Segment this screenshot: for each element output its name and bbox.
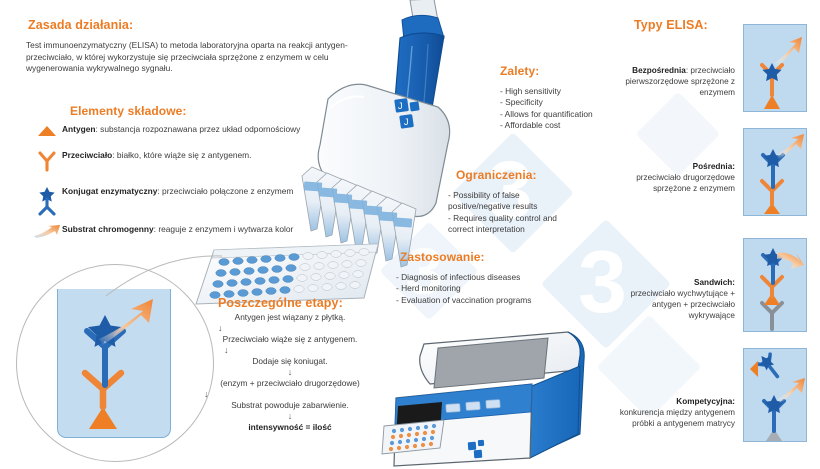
- type-term: Kompetycyjna:: [676, 397, 735, 406]
- applications-item: - Herd monitoring: [396, 283, 531, 294]
- enzyme-conjugate-icon: [32, 186, 62, 216]
- legend-term: Konjugat enzymatyczny: [62, 186, 157, 196]
- type-text: Sandwich: przeciwciało wychwytujące + an…: [610, 249, 735, 321]
- type-text: Pośrednia: przeciwciało drugorzędowe spr…: [610, 151, 735, 194]
- components-heading: Elementy składowe:: [70, 104, 187, 118]
- legend-desc: : substancja rozpoznawana przez układ od…: [96, 124, 301, 134]
- type-term: Pośrednia:: [693, 162, 735, 171]
- svg-text:J: J: [404, 117, 409, 127]
- type-term: Bezpośrednia: [632, 66, 686, 75]
- legend-text: Substrat chromogenny: reaguje z enzymem …: [62, 224, 293, 235]
- steps-line: Przeciwciało wiąże się z antygenem.: [204, 334, 376, 345]
- magnified-complex-diagram: [57, 289, 169, 437]
- advantages-item: - Affordable cost: [500, 120, 593, 131]
- magnifier-connector-line: [100, 250, 230, 310]
- antibody-orange-icon: [32, 150, 62, 172]
- limitations-heading: Ograniczenia:: [456, 168, 537, 182]
- applications-item: - Evaluation of vaccination programs: [396, 295, 531, 306]
- legend-desc: : białko, które wiąże się z antygenem.: [112, 150, 251, 160]
- type-desc: przeciwciało wychwytujące + antygen + pr…: [631, 289, 735, 320]
- steps-line: (enzym + przeciwciało drugorzędowe): [204, 378, 376, 389]
- steps-arrow-icon: ↓: [224, 346, 376, 355]
- type-desc: przeciwciało drugorzędowe sprzężone z en…: [636, 173, 735, 193]
- antigen-triangle-icon: [32, 124, 62, 138]
- elisa-type-direct: Bezpośrednia: przeciwciało pierwszorzędo…: [610, 24, 807, 112]
- principle-body: Test immunoenzymatyczny (ELISA) to metod…: [26, 40, 348, 75]
- steps-arrow-icon: ↓: [204, 412, 376, 421]
- applications-list: - Diagnosis of infectious diseases - Her…: [396, 272, 531, 306]
- applications-heading: Zastosowanie:: [400, 250, 485, 264]
- steps-arrow-icon: ↓: [204, 368, 376, 377]
- limitations-item: correct interpretation: [448, 224, 557, 235]
- type-text: Bezpośrednia: przeciwciało pierwszorzędo…: [610, 39, 735, 98]
- type-desc: konkurencja między antygenem próbki a an…: [620, 408, 735, 428]
- sandwich-elisa-diagram: [743, 238, 807, 332]
- advantages-item: - Specificity: [500, 97, 593, 108]
- elisa-type-indirect: Pośrednia: przeciwciało drugorzędowe spr…: [610, 128, 807, 216]
- infographic-canvas: 3 3 3: [0, 0, 820, 469]
- steps-line: Substrat powoduje zabarwienie.: [204, 400, 376, 411]
- principle-heading: Zasada działania:: [28, 18, 208, 32]
- indirect-elisa-diagram: [743, 128, 807, 216]
- legend-text: Przeciwciało: białko, które wiąże się z …: [62, 150, 251, 161]
- elisa-type-competitive: Kompetycyjna: konkurencja między antygen…: [610, 348, 807, 442]
- limitations-item: - Requires quality control and: [448, 213, 557, 224]
- svg-text:J: J: [398, 101, 403, 111]
- legend-term: Przeciwciało: [62, 150, 112, 160]
- limitations-item: - Possibility of false: [448, 190, 557, 201]
- advantages-item: - Allows for quantification: [500, 109, 593, 120]
- advantages-heading: Zalety:: [500, 64, 539, 78]
- legend-item-antigen: Antygen: substancja rozpoznawana przez u…: [32, 124, 322, 138]
- advantages-item: - High sensitivity: [500, 86, 593, 97]
- legend-desc: : reaguje z enzymem i wytwarza kolor: [154, 224, 294, 234]
- limitations-item: positive/negative results: [448, 201, 557, 212]
- steps-arrow-icon: ↓: [204, 390, 376, 399]
- elisa-plate-reader-illustration: [382, 326, 614, 468]
- steps-arrow-icon: ↓: [218, 324, 376, 333]
- steps-flow: Antygen jest wiązany z płytką. ↓ Przeciw…: [204, 312, 376, 433]
- steps-heading: Poszczególne etapy:: [218, 296, 343, 310]
- legend-term: Antygen: [62, 124, 96, 134]
- legend-text: Konjugat enzymatyczny: przeciwciało połą…: [62, 186, 293, 197]
- type-text: Kompetycyjna: konkurencja między antygen…: [610, 362, 735, 429]
- legend-term: Substrat chromogenny: [62, 224, 154, 234]
- elisa-type-sandwich: Sandwich: przeciwciało wychwytujące + an…: [610, 238, 807, 332]
- legend-item-antibody: Przeciwciało: białko, które wiąże się z …: [32, 150, 322, 172]
- competitive-elisa-diagram: [743, 348, 807, 442]
- legend-item-conjugate: Konjugat enzymatyczny: przeciwciało połą…: [32, 186, 322, 216]
- applications-item: - Diagnosis of infectious diseases: [396, 272, 531, 283]
- type-term: Sandwich:: [694, 278, 735, 287]
- direct-elisa-diagram: [743, 24, 807, 112]
- legend-desc: : przeciwciało połączone z enzymem: [157, 186, 293, 196]
- legend-item-substrate: Substrat chromogenny: reaguje z enzymem …: [32, 224, 322, 240]
- limitations-list: - Possibility of false positive/negative…: [448, 190, 557, 236]
- steps-line: Antygen jest wiązany z płytką.: [204, 312, 376, 323]
- steps-line: Dodaje się koniugat.: [204, 356, 376, 367]
- chromogenic-substrate-icon: [32, 224, 62, 240]
- advantages-list: - High sensitivity - Specificity - Allow…: [500, 86, 593, 132]
- legend-text: Antygen: substancja rozpoznawana przez u…: [62, 124, 300, 135]
- steps-line-conclusion: intensywność = ilość: [204, 422, 376, 433]
